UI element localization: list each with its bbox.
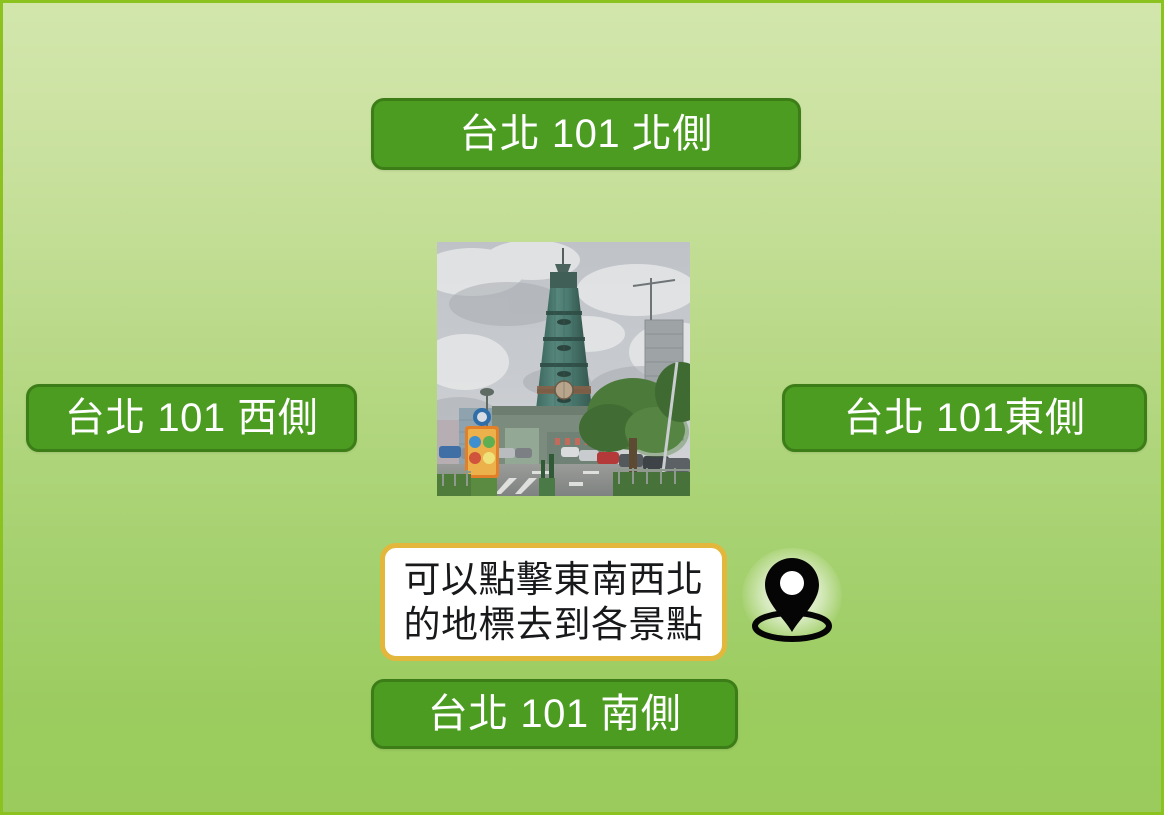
hint-line-1: 可以點擊東南西北 <box>404 557 704 602</box>
direction-button-south[interactable]: 台北 101 南側 <box>371 679 738 749</box>
navigation-panel: 台北 101 北側 台北 101 西側 台北 101東側 台北 101 南側 <box>0 0 1164 815</box>
hint-callout: 可以點擊東南西北 的地標去到各景點 <box>380 543 727 661</box>
direction-button-east[interactable]: 台北 101東側 <box>782 384 1147 452</box>
map-pin-glyph <box>739 548 845 648</box>
direction-button-north[interactable]: 台北 101 北側 <box>371 98 801 170</box>
hint-line-2: 的地標去到各景點 <box>404 602 704 647</box>
map-pin-icon[interactable] <box>739 548 845 648</box>
street-view-photo[interactable] <box>437 242 690 496</box>
direction-button-west[interactable]: 台北 101 西側 <box>26 384 357 452</box>
taipei101-photo-illustration <box>437 242 690 496</box>
